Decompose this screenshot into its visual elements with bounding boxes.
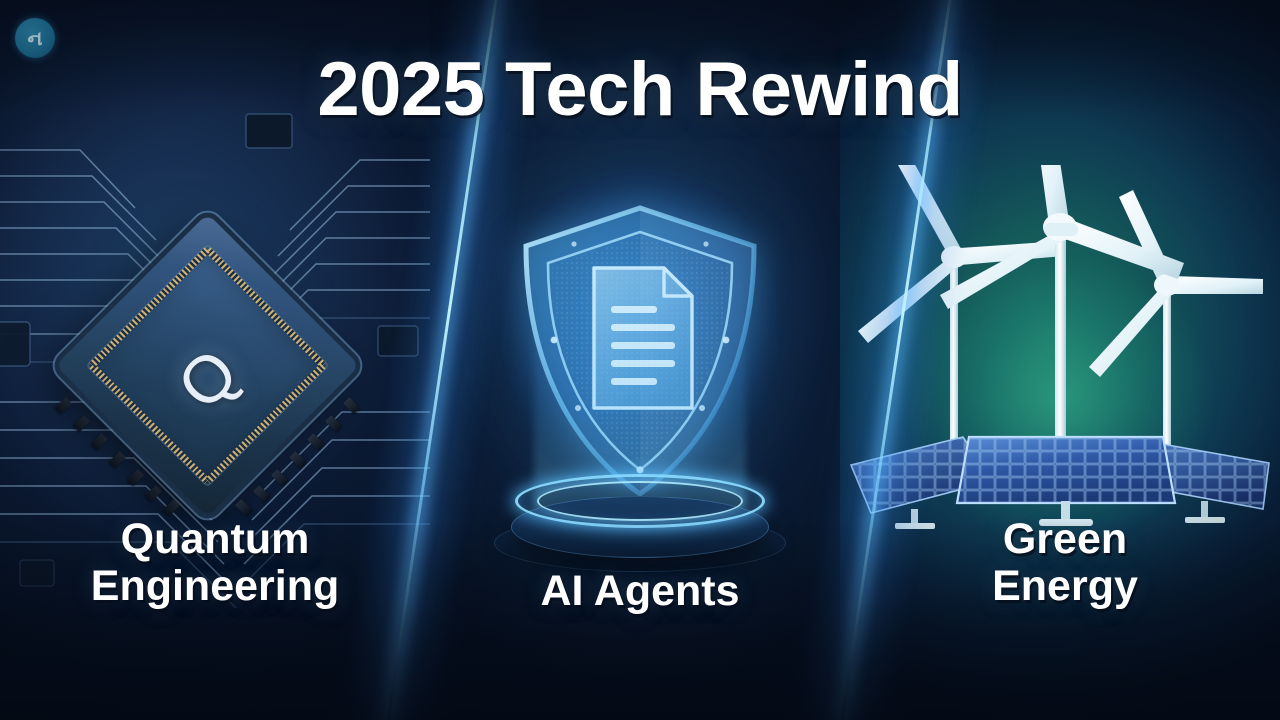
pedestal-light-beam — [534, 260, 746, 510]
poster-canvas: Q — [0, 0, 1280, 720]
brand-logo-icon[interactable]: ન — [15, 18, 55, 58]
brand-logo-glyph: ન — [28, 28, 43, 48]
wind-turbine-solar-panel-icon — [845, 165, 1275, 535]
caption-ai-agents: AI Agents — [430, 568, 850, 615]
caption-quantum-engineering: Quantum Engineering — [0, 516, 430, 611]
quantum-chip-icon: Q — [35, 228, 380, 528]
page-title: 2025 Tech Rewind — [0, 52, 1280, 128]
caption-green-energy: Green Energy — [850, 516, 1280, 611]
hologram-pedestal — [505, 470, 775, 560]
pedestal-ring-inner — [537, 481, 743, 521]
